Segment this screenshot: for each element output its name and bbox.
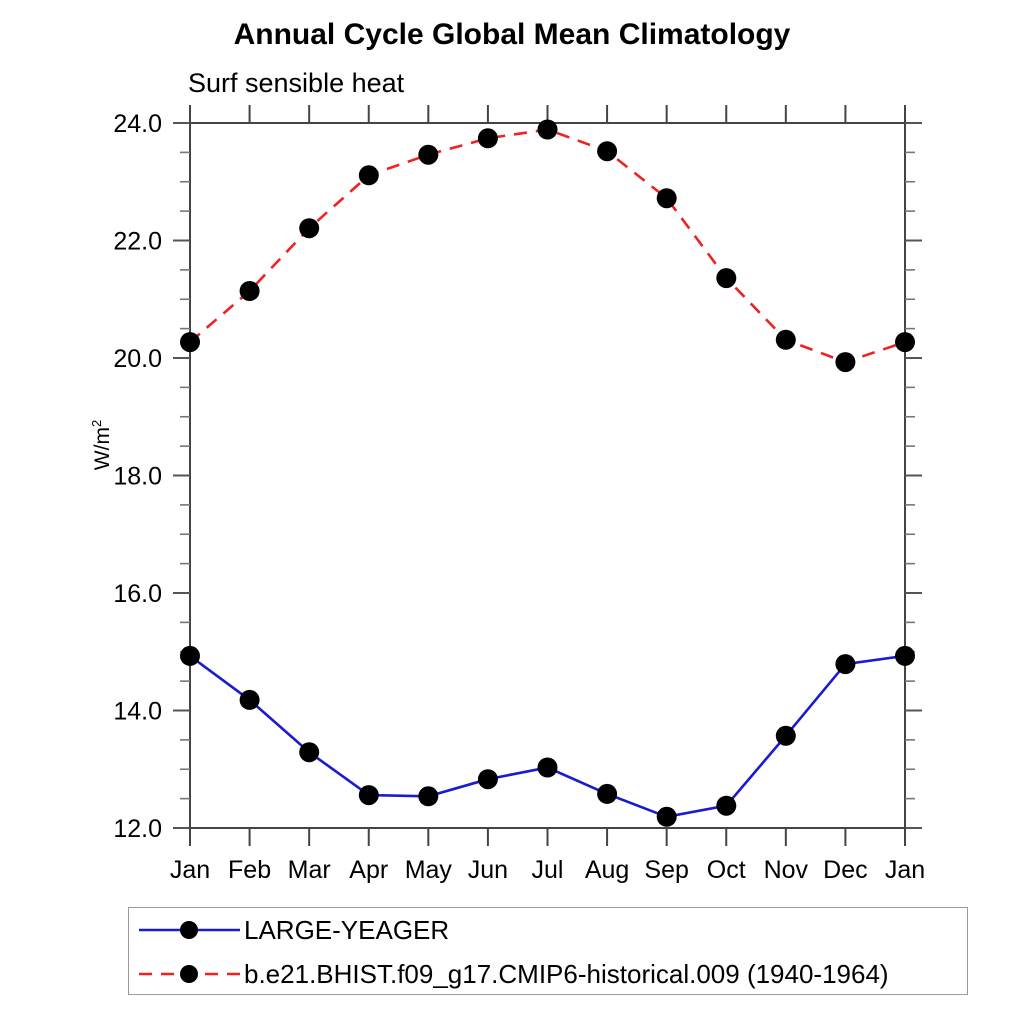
plot-area: 24.022.020.018.016.014.012.0 JanFebMarAp…	[0, 0, 1024, 1024]
data-point-marker	[895, 646, 915, 666]
legend: LARGE-YEAGER b.e21.BHIST.f09_g17.CMIP6-h…	[128, 907, 968, 995]
x-tick-label: Jun	[468, 856, 508, 884]
data-point-marker	[895, 332, 915, 352]
axes	[173, 105, 922, 846]
data-point-marker	[538, 758, 558, 778]
y-tick-label: 16.0	[113, 580, 162, 608]
data-point-marker	[716, 796, 736, 816]
data-point-marker	[478, 769, 498, 789]
series-line-1	[190, 130, 905, 363]
chart-page: Annual Cycle Global Mean Climatology Sur…	[0, 0, 1024, 1024]
x-tick-label: Aug	[585, 856, 629, 884]
data-point-marker	[478, 128, 498, 148]
data-point-marker	[538, 120, 558, 140]
data-series	[180, 120, 915, 827]
x-axis-tick-labels: JanFebMarAprMayJunJulAugSepOctNovDecJan	[170, 856, 925, 884]
legend-swatch-series-1	[137, 952, 242, 996]
data-point-marker	[597, 784, 617, 804]
x-tick-label: Nov	[764, 856, 809, 884]
data-point-marker	[716, 268, 736, 288]
data-point-marker	[359, 785, 379, 805]
data-point-marker	[835, 352, 855, 372]
legend-label-series-0: LARGE-YEAGER	[244, 915, 449, 946]
series-line-0	[190, 656, 905, 817]
data-point-marker	[776, 330, 796, 350]
x-tick-label: Oct	[707, 856, 746, 884]
x-tick-label: Apr	[349, 856, 388, 884]
legend-swatch-series-0	[137, 908, 242, 952]
data-point-marker	[180, 332, 200, 352]
legend-item-0[interactable]: LARGE-YEAGER	[129, 908, 449, 952]
data-point-marker	[657, 188, 677, 208]
y-tick-label: 22.0	[113, 228, 162, 256]
data-point-marker	[299, 742, 319, 762]
y-tick-label: 24.0	[113, 110, 162, 138]
y-tick-label: 20.0	[113, 345, 162, 373]
data-point-marker	[418, 786, 438, 806]
y-tick-label: 14.0	[113, 698, 162, 726]
data-point-marker	[835, 654, 855, 674]
legend-item-1[interactable]: b.e21.BHIST.f09_g17.CMIP6-historical.009…	[129, 952, 889, 996]
data-point-marker	[418, 145, 438, 165]
data-point-marker	[240, 690, 260, 710]
x-tick-label: Mar	[288, 856, 331, 884]
x-tick-label: Jan	[170, 856, 210, 884]
x-tick-label: Dec	[823, 856, 867, 884]
y-axis-tick-labels: 24.022.020.018.016.014.012.0	[113, 110, 162, 843]
data-point-marker	[180, 646, 200, 666]
data-point-marker	[299, 218, 319, 238]
data-point-marker	[597, 141, 617, 161]
x-tick-label: May	[405, 856, 453, 884]
legend-label-series-1: b.e21.BHIST.f09_g17.CMIP6-historical.009…	[244, 959, 889, 990]
data-point-marker	[776, 726, 796, 746]
data-point-marker	[657, 807, 677, 827]
y-tick-label: 18.0	[113, 463, 162, 491]
x-tick-label: Jan	[885, 856, 925, 884]
x-tick-label: Feb	[228, 856, 271, 884]
x-tick-label: Jul	[532, 856, 564, 884]
y-tick-label: 12.0	[113, 815, 162, 843]
data-point-marker	[359, 165, 379, 185]
x-tick-label: Sep	[644, 856, 688, 884]
data-point-marker	[240, 281, 260, 301]
